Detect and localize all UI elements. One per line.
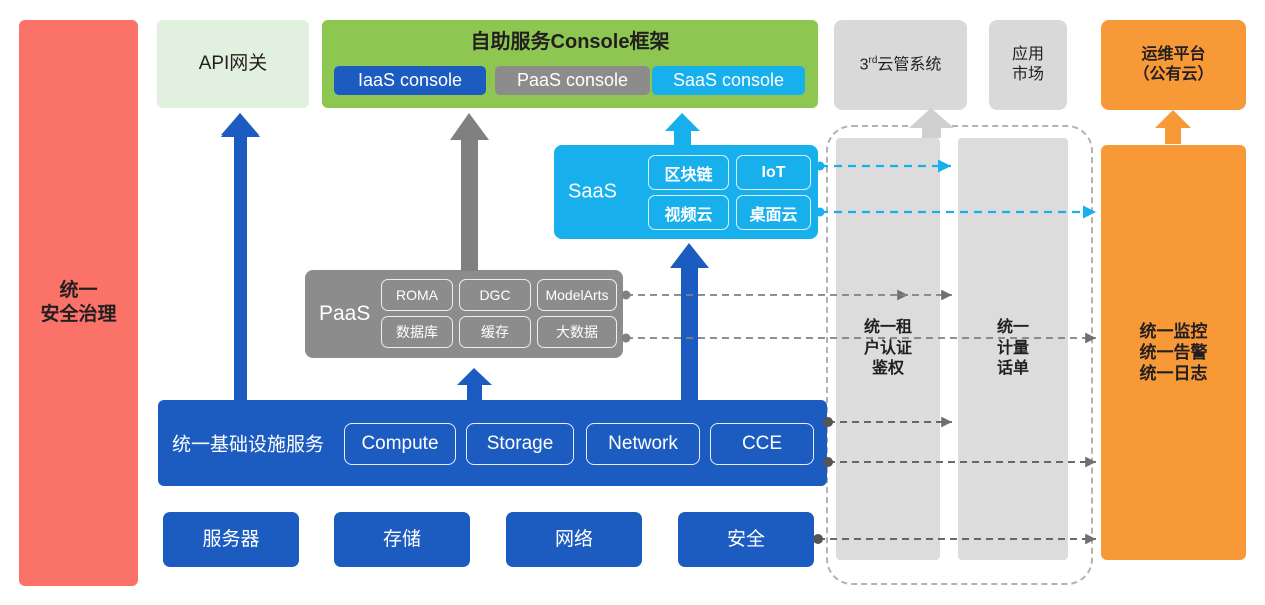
ops-platform-label: 运维平台 （公有云） <box>1133 45 1213 85</box>
saas-pill-video-cloud-label: 视频云 <box>664 201 712 225</box>
infra-pill-compute[interactable]: Compute <box>344 423 456 465</box>
infra-pill-storage-label: Storage <box>487 433 554 455</box>
unified-infrastructure-band: 统一基础设施服务 Compute Storage Network CCE <box>158 400 827 486</box>
arrow-paas-to-console <box>450 113 489 271</box>
paas-pill-bigdata[interactable]: 大数据 <box>537 316 617 348</box>
saas-pill-iot-label: IoT <box>762 164 786 182</box>
saas-pill-blockchain-label: 区块链 <box>664 161 712 185</box>
unified-monitoring-label: 统一监控 统一告警 统一日志 <box>1140 321 1208 385</box>
paas-pill-bigdata-label: 大数据 <box>556 322 598 342</box>
api-gateway-box: API网关 <box>157 20 309 108</box>
unified-monitoring-column: 统一监控 统一告警 统一日志 <box>1101 145 1246 560</box>
saas-console-chip[interactable]: SaaS console <box>652 66 805 95</box>
base-box-storage[interactable]: 存储 <box>334 512 470 567</box>
paas-pill-dgc[interactable]: DGC <box>459 279 531 311</box>
iaas-console-chip[interactable]: IaaS console <box>334 66 486 95</box>
tenant-auth-column-label: 统一租 户认证 鉴权 <box>864 318 912 380</box>
saas-pill-iot[interactable]: IoT <box>736 155 811 190</box>
unified-security-governance-panel: 统一 安全治理 <box>19 20 138 586</box>
saas-pill-desktop-cloud-label: 桌面云 <box>749 201 797 225</box>
paas-pill-database-label: 数据库 <box>396 322 438 342</box>
infra-pill-network-label: Network <box>608 433 678 455</box>
base-box-network[interactable]: 网络 <box>506 512 642 567</box>
unified-infrastructure-label: 统一基础设施服务 <box>172 430 324 457</box>
app-market-box: 应用 市场 <box>989 20 1067 110</box>
infra-pill-network[interactable]: Network <box>586 423 700 465</box>
base-box-server-label: 服务器 <box>202 528 259 552</box>
base-box-storage-label: 存储 <box>383 528 421 552</box>
saas-card-label: SaaS <box>568 181 617 204</box>
ops-platform-box: 运维平台 （公有云） <box>1101 20 1246 110</box>
paas-console-chip[interactable]: PaaS console <box>495 66 650 95</box>
app-market-label: 应用 市场 <box>1012 45 1044 85</box>
infra-pill-compute-label: Compute <box>361 433 438 455</box>
third-party-cloud-mgmt-label: 3rd云管系统 <box>860 55 942 75</box>
paas-pill-roma-label: ROMA <box>396 287 438 303</box>
iaas-console-label: IaaS console <box>358 69 462 92</box>
base-box-network-label: 网络 <box>555 528 593 552</box>
saas-pill-desktop-cloud[interactable]: 桌面云 <box>736 195 811 230</box>
paas-card: PaaS ROMA DGC ModelArts 数据库 缓存 大数据 <box>305 270 623 358</box>
paas-pill-modelarts[interactable]: ModelArts <box>537 279 617 311</box>
arrow-infra-to-saas <box>670 243 709 403</box>
infra-pill-cce-label: CCE <box>742 433 782 455</box>
arrow-infra-to-paas <box>457 368 492 402</box>
base-box-security[interactable]: 安全 <box>678 512 814 567</box>
saas-pill-video-cloud[interactable]: 视频云 <box>648 195 729 230</box>
paas-pill-database[interactable]: 数据库 <box>381 316 453 348</box>
saas-console-label: SaaS console <box>673 69 784 92</box>
metering-billing-column: 统一 计量 话单 <box>958 138 1068 560</box>
base-box-server[interactable]: 服务器 <box>163 512 299 567</box>
diagram-canvas: 统一 安全治理 API网关 自助服务Console框架 IaaS console… <box>0 0 1265 605</box>
saas-pill-blockchain[interactable]: 区块链 <box>648 155 729 190</box>
arrow-infra-to-api-gateway <box>221 113 260 400</box>
paas-pill-dgc-label: DGC <box>479 287 510 303</box>
arrow-ops-column-to-platform <box>1155 110 1191 144</box>
paas-console-label: PaaS console <box>517 69 628 92</box>
infra-pill-cce[interactable]: CCE <box>710 423 814 465</box>
self-service-console-frame: 自助服务Console框架 IaaS console PaaS console … <box>322 20 818 108</box>
base-box-security-label: 安全 <box>727 528 765 552</box>
api-gateway-label: API网关 <box>199 52 268 76</box>
infra-pill-storage[interactable]: Storage <box>466 423 574 465</box>
metering-billing-column-label: 统一 计量 话单 <box>997 318 1029 380</box>
paas-pill-cache[interactable]: 缓存 <box>459 316 531 348</box>
arrow-saas-to-console <box>665 113 700 148</box>
console-frame-title: 自助服务Console框架 <box>322 30 818 55</box>
paas-card-label: PaaS <box>319 302 370 326</box>
unified-security-governance-label: 统一 安全治理 <box>40 279 116 327</box>
tenant-auth-column: 统一租 户认证 鉴权 <box>836 138 940 560</box>
paas-pill-modelarts-label: ModelArts <box>545 287 608 303</box>
saas-card: SaaS 区块链 IoT 视频云 桌面云 <box>554 145 818 239</box>
paas-pill-roma[interactable]: ROMA <box>381 279 453 311</box>
third-party-cloud-mgmt-box: 3rd云管系统 <box>834 20 967 110</box>
paas-pill-cache-label: 缓存 <box>481 322 509 342</box>
